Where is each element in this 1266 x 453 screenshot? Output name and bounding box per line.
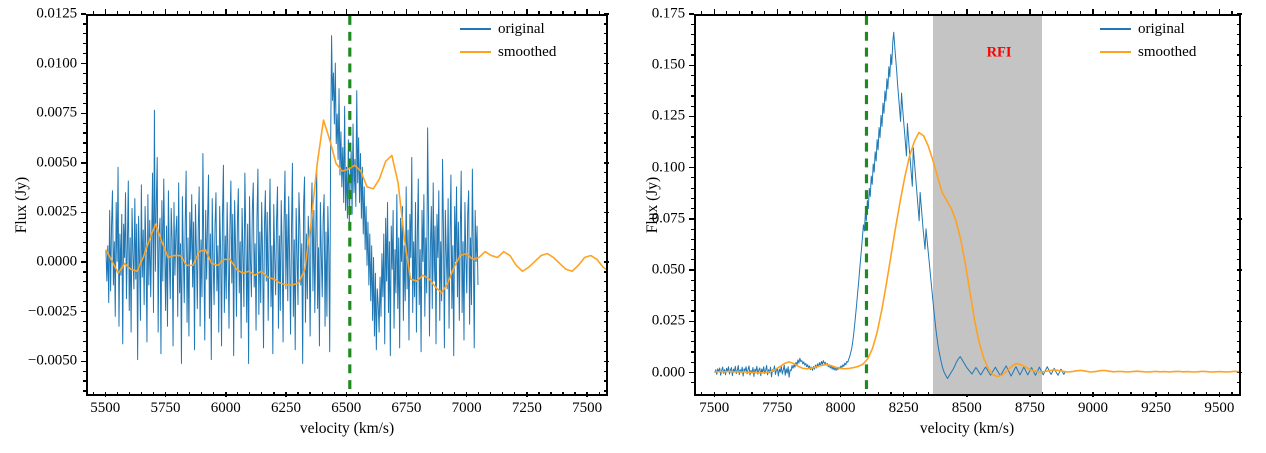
xtick-minor-mirror [1206, 11, 1207, 14]
xtick-minor-mirror [1118, 11, 1119, 14]
ytick-label: 0.0025 [36, 204, 77, 221]
xtick-minor-mirror [1004, 11, 1005, 14]
xtick-minor [297, 392, 298, 395]
xtick-minor [574, 392, 575, 395]
xtick-major-mirror [777, 9, 779, 14]
ytick-minor [83, 371, 86, 372]
xtick-major [526, 392, 528, 397]
xtick-minor-mirror [478, 11, 479, 14]
xtick-label: 9500 [1204, 400, 1234, 417]
xtick-minor-mirror [141, 11, 142, 14]
xtick-minor-mirror [370, 11, 371, 14]
ytick-minor-mirror [604, 182, 607, 183]
ytick-minor [83, 351, 86, 352]
ytick-minor [83, 252, 86, 253]
ytick-minor-mirror [604, 103, 607, 104]
ytick-minor [691, 177, 694, 178]
xtick-major-mirror [466, 9, 468, 14]
ytick-major [689, 13, 694, 15]
ytick-minor [691, 157, 694, 158]
xtick-minor [153, 392, 154, 395]
ytick-label: −0.0025 [28, 303, 77, 320]
ytick-minor [691, 106, 694, 107]
xtick-minor [213, 392, 214, 395]
xtick-minor-mirror [827, 11, 828, 14]
ytick-minor [83, 53, 86, 54]
ytick-minor [691, 259, 694, 260]
xtick-minor-mirror [382, 11, 383, 14]
xtick-minor-mirror [751, 11, 752, 14]
ytick-minor-mirror [604, 371, 607, 372]
ytick-major-mirror [604, 361, 609, 363]
ytick-minor [691, 290, 694, 291]
xaxis-title-left: velocity (km/s) [300, 420, 394, 438]
xtick-label: 7500 [572, 400, 602, 417]
xtick-minor-mirror [117, 11, 118, 14]
ytick-minor [691, 249, 694, 250]
ytick-minor-mirror [604, 301, 607, 302]
xtick-minor-mirror [322, 11, 323, 14]
xtick-minor-mirror [213, 11, 214, 14]
xtick-major [406, 392, 408, 397]
xtick-minor [117, 392, 118, 395]
xtick-major [586, 392, 588, 397]
xtick-minor [249, 392, 250, 395]
ytick-major-mirror [604, 162, 609, 164]
legend-label-original: original [498, 22, 545, 37]
xtick-minor-mirror [701, 11, 702, 14]
xtick-minor-mirror [1042, 11, 1043, 14]
ytick-minor [83, 152, 86, 153]
ytick-major-mirror [604, 63, 609, 65]
ytick-minor-mirror [604, 281, 607, 282]
xtick-minor-mirror [1181, 11, 1182, 14]
ytick-minor [83, 390, 86, 391]
xtick-major-mirror [105, 9, 107, 14]
legend-swatch-original [460, 28, 491, 30]
xtick-major-mirror [1029, 9, 1031, 14]
ytick-minor [691, 280, 694, 281]
xtick-minor [93, 392, 94, 395]
ytick-minor [691, 44, 694, 45]
ytick-minor [83, 33, 86, 34]
xtick-minor-mirror [1017, 11, 1018, 14]
legend-label-original: original [1138, 22, 1185, 37]
ytick-minor [83, 172, 86, 173]
xtick-minor-mirror [1067, 11, 1068, 14]
xtick-label: 5750 [151, 400, 181, 417]
ytick-minor [83, 43, 86, 44]
ytick-minor-mirror [604, 380, 607, 381]
xtick-minor-mirror [490, 11, 491, 14]
xtick-major-mirror [1219, 9, 1221, 14]
xtick-minor-mirror [853, 11, 854, 14]
xtick-minor-mirror [502, 11, 503, 14]
xtick-minor-mirror [514, 11, 515, 14]
ytick-minor-mirror [604, 73, 607, 74]
xtick-minor [382, 392, 383, 395]
xtick-minor [177, 392, 178, 395]
ytick-minor-mirror [604, 390, 607, 391]
ytick-minor-mirror [604, 232, 607, 233]
ytick-label: 0.0100 [36, 55, 77, 72]
ytick-minor [83, 222, 86, 223]
xtick-minor-mirror [954, 11, 955, 14]
ytick-minor [83, 123, 86, 124]
xtick-major-mirror [406, 9, 408, 14]
xtick-minor-mirror [1130, 11, 1131, 14]
ytick-minor [83, 380, 86, 381]
ytick-minor-mirror [604, 43, 607, 44]
xtick-minor [129, 392, 130, 395]
ytick-minor [691, 351, 694, 352]
xtick-label: 6000 [211, 400, 241, 417]
xtick-minor-mirror [177, 11, 178, 14]
xtick-minor-mirror [599, 11, 600, 14]
xtick-label: 6500 [331, 400, 361, 417]
ytick-minor [83, 271, 86, 272]
xtick-major-mirror [586, 9, 588, 14]
xtick-minor-mirror [789, 11, 790, 14]
ytick-major-mirror [604, 212, 609, 214]
xtick-major-mirror [840, 9, 842, 14]
xtick-minor-mirror [237, 11, 238, 14]
xtick-minor-mirror [1193, 11, 1194, 14]
xtick-major [165, 392, 167, 397]
ytick-major [81, 261, 86, 263]
ytick-minor-mirror [604, 123, 607, 124]
ytick-label: 0.175 [652, 6, 685, 23]
ytick-major-mirror [604, 261, 609, 263]
xtick-minor-mirror [201, 11, 202, 14]
xtick-major-mirror [526, 9, 528, 14]
xtick-major [105, 392, 107, 397]
ytick-major [81, 13, 86, 15]
xtick-major-mirror [1092, 9, 1094, 14]
xtick-minor-mirror [991, 11, 992, 14]
ytick-minor-mirror [604, 341, 607, 342]
legend-label-smoothed: smoothed [498, 45, 556, 60]
xtick-minor-mirror [764, 11, 765, 14]
xtick-major-mirror [225, 9, 227, 14]
ytick-major [689, 65, 694, 67]
xtick-major-mirror [346, 9, 348, 14]
xtick-minor-mirror [815, 11, 816, 14]
ytick-minor [83, 132, 86, 133]
yaxis-title-right: Flux (Jy) [644, 177, 662, 233]
xtick-major-mirror [903, 9, 905, 14]
figure-two-panel-hi-spectra: −0.0050−0.00250.00000.00250.00500.00750.… [0, 0, 1266, 453]
ytick-minor [83, 73, 86, 74]
ytick-major [81, 311, 86, 313]
xtick-minor-mirror [928, 11, 929, 14]
ytick-minor [691, 24, 694, 25]
xtick-minor-mirror [454, 11, 455, 14]
ytick-minor-mirror [604, 152, 607, 153]
ytick-major [81, 113, 86, 115]
xtick-major-mirror [714, 9, 716, 14]
legend-label-smoothed: smoothed [1138, 45, 1196, 60]
series-smoothed [715, 133, 1239, 377]
ytick-minor [691, 198, 694, 199]
xtick-minor-mirror [739, 11, 740, 14]
series-original [715, 32, 1066, 378]
xtick-minor-mirror [941, 11, 942, 14]
ytick-major [689, 218, 694, 220]
xtick-minor [237, 392, 238, 395]
xtick-minor-mirror [297, 11, 298, 14]
ytick-minor [83, 23, 86, 24]
xtick-minor [490, 392, 491, 395]
ytick-minor-mirror [604, 172, 607, 173]
ytick-minor [83, 182, 86, 183]
ytick-minor-mirror [604, 271, 607, 272]
xtick-major [225, 392, 227, 397]
xtick-minor [261, 392, 262, 395]
xtick-minor [550, 392, 551, 395]
ytick-minor [83, 83, 86, 84]
xtick-label: 7250 [512, 400, 542, 417]
ytick-minor [83, 242, 86, 243]
xtick-minor-mirror [273, 11, 274, 14]
ytick-minor-mirror [604, 83, 607, 84]
ytick-label: 0.025 [652, 313, 685, 330]
ytick-minor-mirror [604, 53, 607, 54]
ytick-major [81, 63, 86, 65]
ytick-minor-mirror [604, 291, 607, 292]
xtick-minor-mirror [1143, 11, 1144, 14]
xtick-label: 6250 [271, 400, 301, 417]
ytick-major-mirror [604, 13, 609, 15]
ytick-major [81, 361, 86, 363]
ytick-minor [83, 301, 86, 302]
xtick-minor-mirror [249, 11, 250, 14]
xtick-label: 8000 [825, 400, 855, 417]
xtick-minor [478, 392, 479, 395]
xtick-minor [358, 392, 359, 395]
plot-area-right: RFI [694, 14, 1241, 396]
xtick-minor [502, 392, 503, 395]
xtick-minor [201, 392, 202, 395]
ytick-minor [83, 321, 86, 322]
xtick-minor [442, 392, 443, 395]
ytick-minor-mirror [604, 242, 607, 243]
plot-area-left [86, 14, 608, 396]
ytick-minor-mirror [604, 23, 607, 24]
xtick-minor [322, 392, 323, 395]
ytick-minor [83, 142, 86, 143]
xtick-minor-mirror [916, 11, 917, 14]
ytick-minor [691, 188, 694, 189]
ytick-major [81, 162, 86, 164]
panel-left: −0.0050−0.00250.00000.00250.00500.00750.… [0, 0, 633, 453]
rfi-label: RFI [987, 44, 1012, 61]
xtick-minor [141, 392, 142, 395]
xtick-minor [309, 392, 310, 395]
ytick-minor [691, 54, 694, 55]
ytick-major [689, 372, 694, 374]
ytick-major-mirror [604, 311, 609, 313]
xtick-minor-mirror [1055, 11, 1056, 14]
xtick-minor-mirror [261, 11, 262, 14]
ytick-minor-mirror [604, 132, 607, 133]
legend-item-smoothed[interactable]: smoothed [460, 43, 556, 61]
xtick-minor-mirror [1231, 11, 1232, 14]
ytick-label: 0.125 [652, 108, 685, 125]
ytick-minor [691, 239, 694, 240]
ytick-minor [83, 202, 86, 203]
ytick-minor-mirror [604, 331, 607, 332]
xtick-major [466, 392, 468, 397]
xtick-label: 5500 [90, 400, 120, 417]
ytick-minor-mirror [604, 252, 607, 253]
xtick-minor-mirror [442, 11, 443, 14]
xtick-label: 9250 [1141, 400, 1171, 417]
xtick-major-mirror [165, 9, 167, 14]
ytick-minor [83, 291, 86, 292]
xtick-label: 8500 [952, 400, 982, 417]
xaxis-title-right: velocity (km/s) [920, 420, 1014, 438]
xtick-minor [394, 392, 395, 395]
spectrum-svg-right [696, 16, 1239, 394]
ytick-minor-mirror [604, 351, 607, 352]
panel-right: RFI 0.0000.0250.0500.0750.1000.1250.1500… [633, 0, 1266, 453]
xtick-minor-mirror [309, 11, 310, 14]
xtick-minor-mirror [574, 11, 575, 14]
xtick-minor-mirror [93, 11, 94, 14]
xtick-label: 8250 [889, 400, 919, 417]
xtick-minor [370, 392, 371, 395]
series-original [106, 36, 478, 364]
ytick-minor-mirror [604, 222, 607, 223]
legend-right: original smoothed [1100, 20, 1196, 61]
ytick-minor [691, 382, 694, 383]
ytick-minor [83, 281, 86, 282]
ytick-minor-mirror [604, 202, 607, 203]
legend-item-original[interactable]: original [1100, 20, 1196, 38]
ytick-label: 0.0075 [36, 105, 77, 122]
xtick-label: 9000 [1078, 400, 1108, 417]
ytick-minor [691, 126, 694, 127]
ytick-minor-mirror [604, 93, 607, 94]
ytick-label: 0.150 [652, 57, 685, 74]
xtick-major-mirror [1155, 9, 1157, 14]
xtick-major [285, 392, 287, 397]
ytick-minor [83, 232, 86, 233]
ytick-minor [691, 300, 694, 301]
xtick-major [346, 392, 348, 397]
xtick-minor-mirror [802, 11, 803, 14]
xtick-minor-mirror [979, 11, 980, 14]
xtick-minor-mirror [189, 11, 190, 14]
xtick-minor [430, 392, 431, 395]
ytick-minor-mirror [604, 321, 607, 322]
ytick-minor-mirror [604, 192, 607, 193]
xtick-minor [562, 392, 563, 395]
ytick-label: 0.0125 [36, 6, 77, 23]
xtick-minor-mirror [358, 11, 359, 14]
xtick-minor-mirror [865, 11, 866, 14]
ytick-major-mirror [604, 113, 609, 115]
ytick-label: 0.0050 [36, 154, 77, 171]
xtick-minor-mirror [1168, 11, 1169, 14]
xtick-minor-mirror [550, 11, 551, 14]
ytick-minor [691, 331, 694, 332]
ytick-label: 0.0000 [36, 254, 77, 271]
xtick-minor [418, 392, 419, 395]
legend-swatch-original [1100, 28, 1131, 30]
ytick-minor [83, 341, 86, 342]
legend-item-smoothed[interactable]: smoothed [1100, 43, 1196, 61]
ytick-minor [691, 310, 694, 311]
xtick-minor-mirror [1105, 11, 1106, 14]
ytick-minor [691, 75, 694, 76]
ytick-minor [691, 95, 694, 96]
ytick-label: 0.100 [652, 159, 685, 176]
ytick-major [689, 321, 694, 323]
xtick-minor-mirror [878, 11, 879, 14]
ytick-minor [83, 331, 86, 332]
xtick-major-mirror [285, 9, 287, 14]
xtick-minor [514, 392, 515, 395]
xtick-minor-mirror [153, 11, 154, 14]
ytick-major [689, 116, 694, 118]
ytick-major [689, 167, 694, 169]
xtick-label: 7750 [762, 400, 792, 417]
ytick-minor [691, 362, 694, 363]
yaxis-title-left: Flux (Jy) [13, 177, 31, 233]
ytick-minor [83, 192, 86, 193]
ytick-label: 0.050 [652, 262, 685, 279]
legend-item-original[interactable]: original [460, 20, 556, 38]
ytick-minor-mirror [604, 33, 607, 34]
xtick-minor-mirror [394, 11, 395, 14]
ytick-minor [83, 103, 86, 104]
ytick-minor [691, 229, 694, 230]
xtick-label: 7000 [452, 400, 482, 417]
ytick-minor [83, 93, 86, 94]
ytick-label: 0.000 [652, 364, 685, 381]
xtick-major-mirror [966, 9, 968, 14]
ytick-minor-mirror [604, 142, 607, 143]
ytick-minor [691, 147, 694, 148]
ytick-label: −0.0050 [28, 353, 77, 370]
ytick-major [689, 269, 694, 271]
xtick-label: 6750 [391, 400, 421, 417]
xtick-minor-mirror [334, 11, 335, 14]
xtick-minor-mirror [726, 11, 727, 14]
xtick-minor-mirror [562, 11, 563, 14]
legend-left: original smoothed [460, 20, 556, 61]
legend-swatch-smoothed [460, 51, 491, 53]
ytick-major-mirror [1237, 13, 1242, 15]
ytick-minor [691, 136, 694, 137]
ytick-major [81, 212, 86, 214]
xtick-minor-mirror [418, 11, 419, 14]
ytick-minor [691, 208, 694, 209]
xtick-label: 7500 [699, 400, 729, 417]
xtick-minor [538, 392, 539, 395]
ytick-minor [691, 34, 694, 35]
xtick-minor-mirror [129, 11, 130, 14]
xtick-minor-mirror [890, 11, 891, 14]
xtick-minor [599, 392, 600, 395]
legend-swatch-smoothed [1100, 51, 1131, 53]
xtick-minor [334, 392, 335, 395]
ytick-minor [691, 341, 694, 342]
xtick-minor [273, 392, 274, 395]
ytick-minor [691, 85, 694, 86]
